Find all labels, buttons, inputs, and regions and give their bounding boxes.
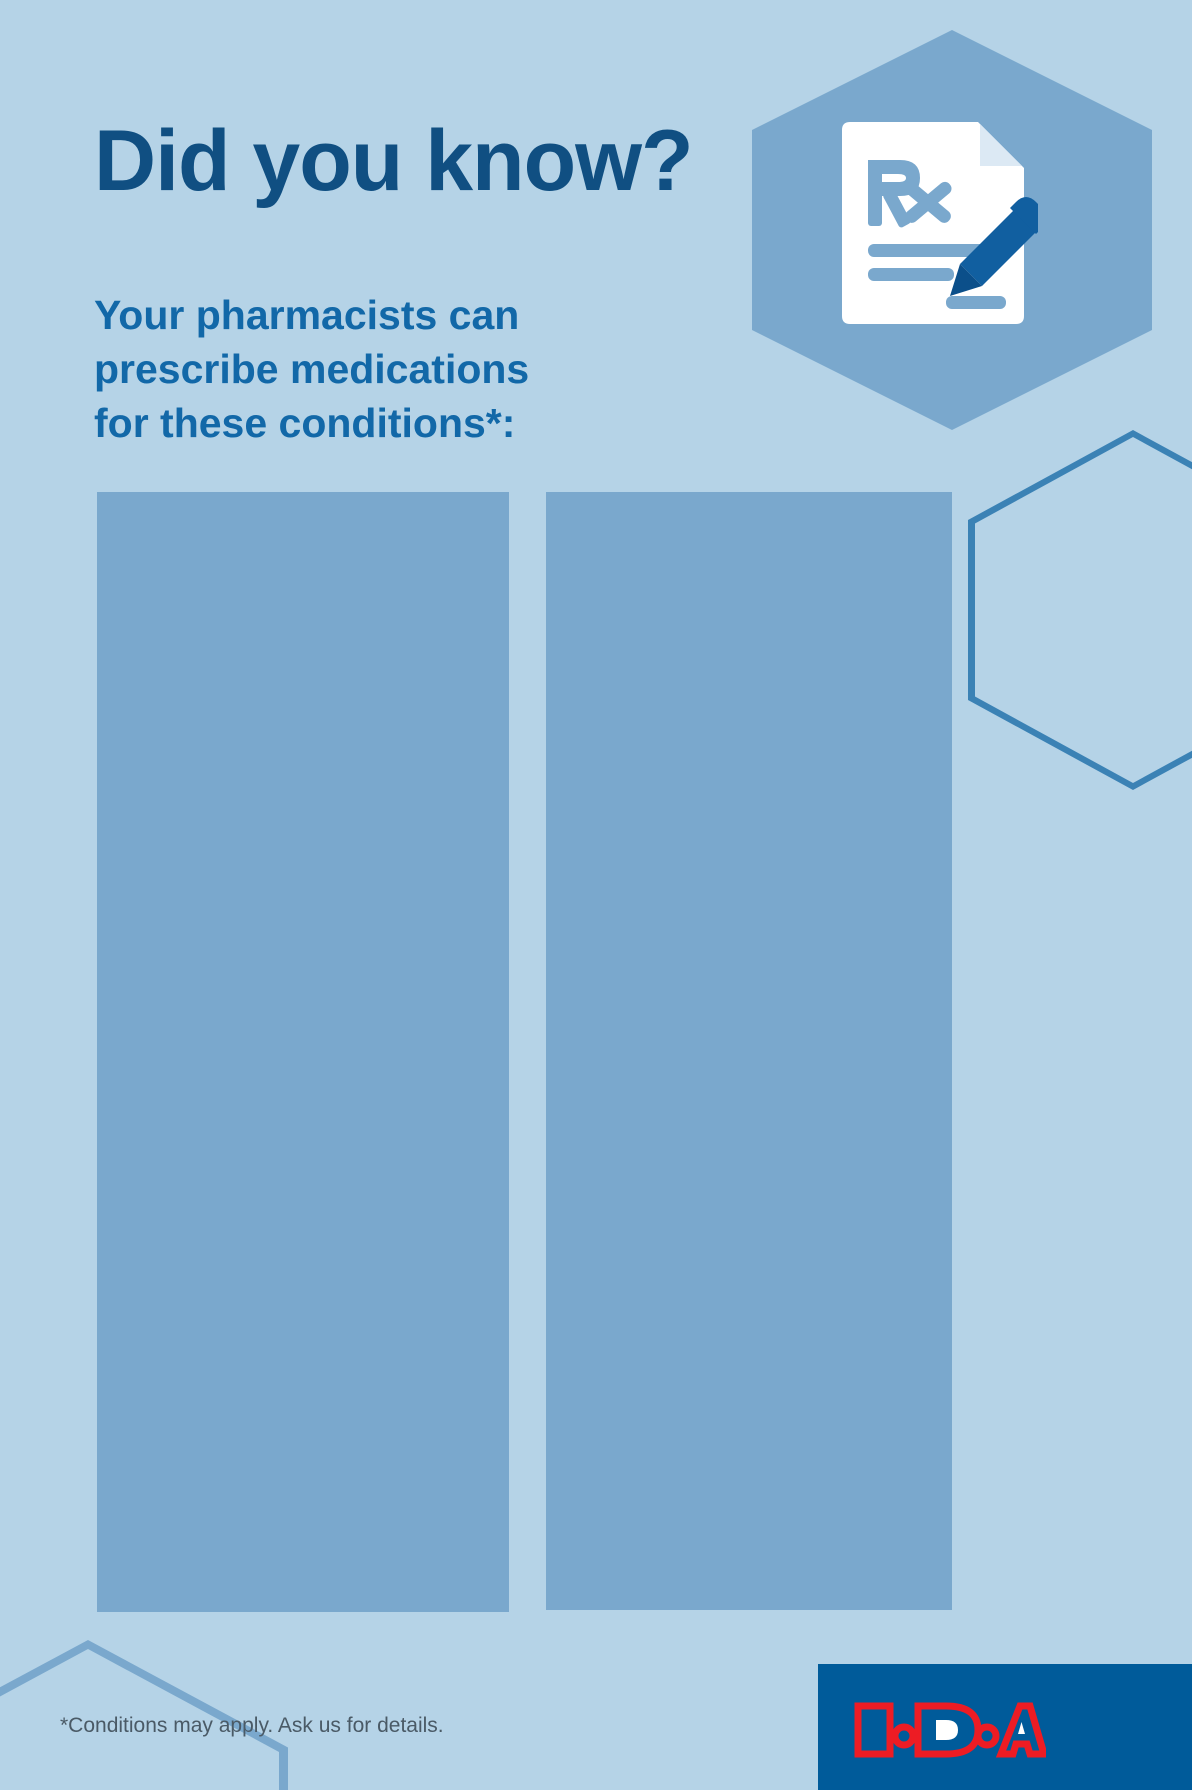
page-title: Did you know? — [94, 118, 693, 204]
page-subtitle: Your pharmacists can prescribe medicatio… — [94, 288, 529, 450]
footnote-text: *Conditions may apply. Ask us for detail… — [60, 1714, 444, 1738]
ida-logo-icon — [854, 1700, 1046, 1760]
prescription-pad-icon — [838, 118, 1038, 328]
hexagon-outline-right-decor — [968, 430, 1192, 790]
conditions-panel-right — [546, 492, 952, 1610]
poster-canvas: Did you know? Your pharmacists can presc… — [0, 0, 1192, 1790]
ida-logo-block — [818, 1664, 1192, 1790]
conditions-panel-left — [97, 492, 509, 1612]
